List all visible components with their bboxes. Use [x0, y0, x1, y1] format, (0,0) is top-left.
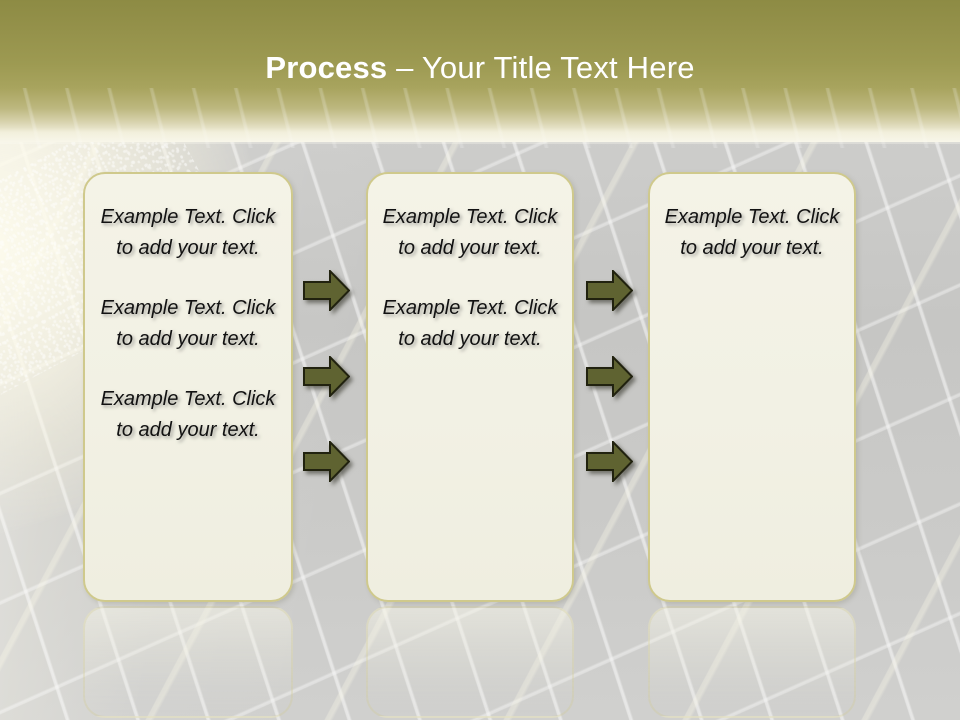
page-title: Process – Your Title Text Here	[0, 49, 960, 87]
right-arrow-icon	[303, 356, 350, 397]
stage-2-paragraph-2[interactable]: Example Text. Click to add your text.	[380, 293, 560, 355]
right-arrow-icon	[586, 270, 633, 311]
stage-3-content: Example Text. Click to add your text.	[650, 202, 854, 264]
slide-canvas: Process – Your Title Text Here Example T…	[0, 0, 960, 720]
title-band-edge	[0, 128, 960, 144]
process-box-stage-3[interactable]: Example Text. Click to add your text.	[648, 172, 856, 602]
stage-1-paragraph-3[interactable]: Example Text. Click to add your text.	[97, 384, 279, 446]
right-arrow-icon	[586, 356, 633, 397]
right-arrow-icon	[586, 441, 633, 482]
stage-1-paragraph-1[interactable]: Example Text. Click to add your text.	[97, 202, 279, 264]
stage-3-paragraph-1[interactable]: Example Text. Click to add your text.	[662, 202, 842, 264]
stage-2-content: Example Text. Click to add your text. Ex…	[368, 202, 572, 355]
page-title-bold: Process	[265, 50, 387, 85]
right-arrow-icon	[303, 270, 350, 311]
stage-1-paragraph-2[interactable]: Example Text. Click to add your text.	[97, 293, 279, 355]
stage-2-paragraph-1[interactable]: Example Text. Click to add your text.	[380, 202, 560, 264]
page-title-rest: – Your Title Text Here	[387, 50, 694, 85]
process-box-stage-1[interactable]: Example Text. Click to add your text. Ex…	[83, 172, 293, 602]
right-arrow-icon	[303, 441, 350, 482]
process-box-stage-2[interactable]: Example Text. Click to add your text. Ex…	[366, 172, 574, 602]
stage-1-content: Example Text. Click to add your text. Ex…	[85, 202, 291, 446]
